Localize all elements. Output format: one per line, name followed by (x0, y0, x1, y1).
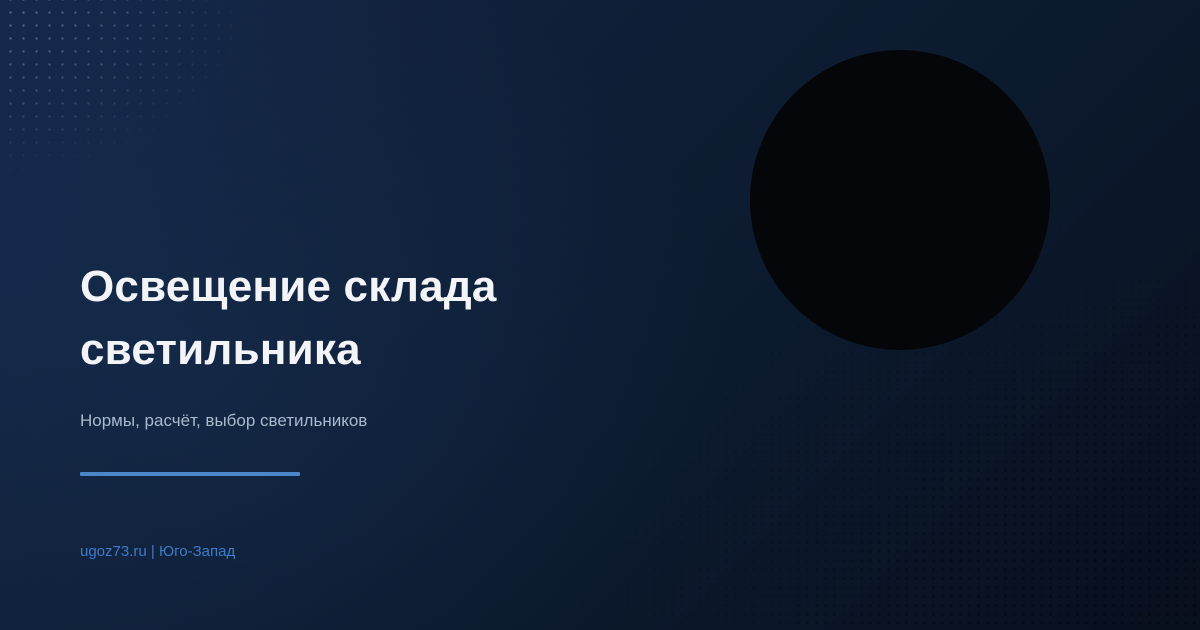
site-attribution: ugoz73.ru | Юго-Запад (80, 542, 235, 562)
decorative-circle (750, 50, 1050, 350)
page-subtitle: Нормы, расчёт, выбор светильников (80, 409, 367, 433)
accent-divider (80, 472, 300, 476)
card-content: Освещение склада светильника Нормы, расч… (80, 0, 700, 630)
page-title: Освещение склада светильника (80, 255, 680, 381)
social-share-card: Освещение склада светильника Нормы, расч… (0, 0, 1200, 630)
